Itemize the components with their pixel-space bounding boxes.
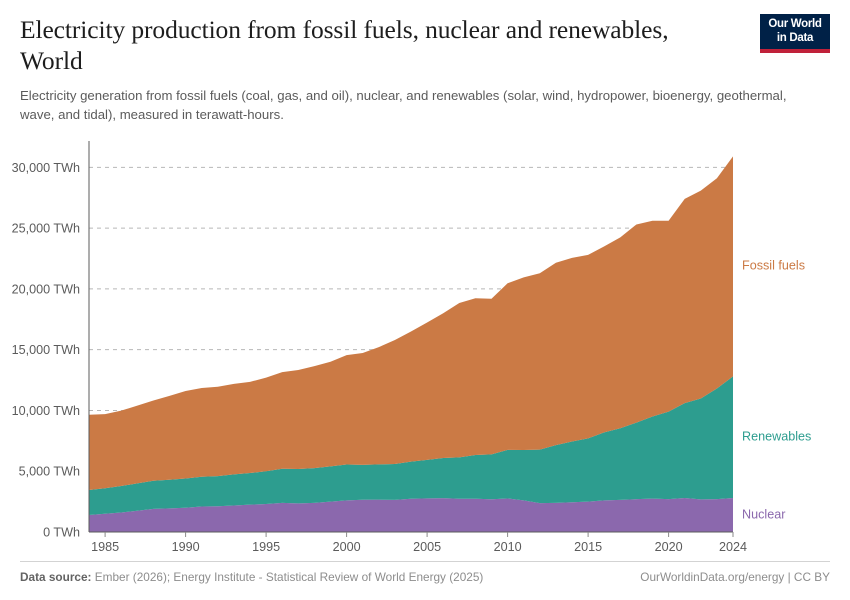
x-axis-tick-label: 2010 [494,540,522,554]
chart-header: Electricity production from fossil fuels… [0,0,850,125]
y-axis-tick-label: 25,000 TWh [12,222,80,236]
y-axis-tick-label: 10,000 TWh [12,404,80,418]
x-axis-tick-label: 2020 [655,540,683,554]
stacked-area-chart[interactable]: 0 TWh5,000 TWh10,000 TWh15,000 TWh20,000… [0,118,850,558]
x-axis-tick-label: 1985 [91,540,119,554]
x-axis-tick-label: 2015 [574,540,602,554]
series-label-renewables[interactable]: Renewables [742,430,811,444]
logo-line-2: in Data [764,32,826,49]
data-source-text: Ember (2026); Energy Institute - Statist… [95,570,484,584]
logo-line-1: Our World [764,18,826,32]
our-world-in-data-logo[interactable]: Our World in Data [760,14,830,53]
chart-page: Electricity production from fossil fuels… [0,0,850,600]
data-source: Data source: Ember (2026); Energy Instit… [20,570,483,584]
data-source-label: Data source: [20,570,91,584]
y-axis-tick-label: 0 TWh [43,526,80,540]
x-axis-tick-label: 1995 [252,540,280,554]
chart-area: 0 TWh5,000 TWh10,000 TWh15,000 TWh20,000… [0,118,850,558]
y-axis-tick-label: 20,000 TWh [12,282,80,296]
series-label-fossil-fuels[interactable]: Fossil fuels [742,259,805,273]
page-title: Electricity production from fossil fuels… [20,14,720,76]
y-axis-tick-label: 15,000 TWh [12,343,80,357]
x-axis-tick-label: 2005 [413,540,441,554]
x-axis-tick-label: 2024 [719,540,747,554]
x-axis-tick-label: 2000 [333,540,361,554]
x-axis-tick-label: 1990 [172,540,200,554]
y-axis-tick-label: 5,000 TWh [19,465,80,479]
chart-footer: Data source: Ember (2026); Energy Instit… [20,561,830,584]
y-axis-tick-label: 30,000 TWh [12,161,80,175]
series-label-nuclear[interactable]: Nuclear [742,507,785,521]
attribution-link[interactable]: OurWorldinData.org/energy | CC BY [640,570,830,584]
